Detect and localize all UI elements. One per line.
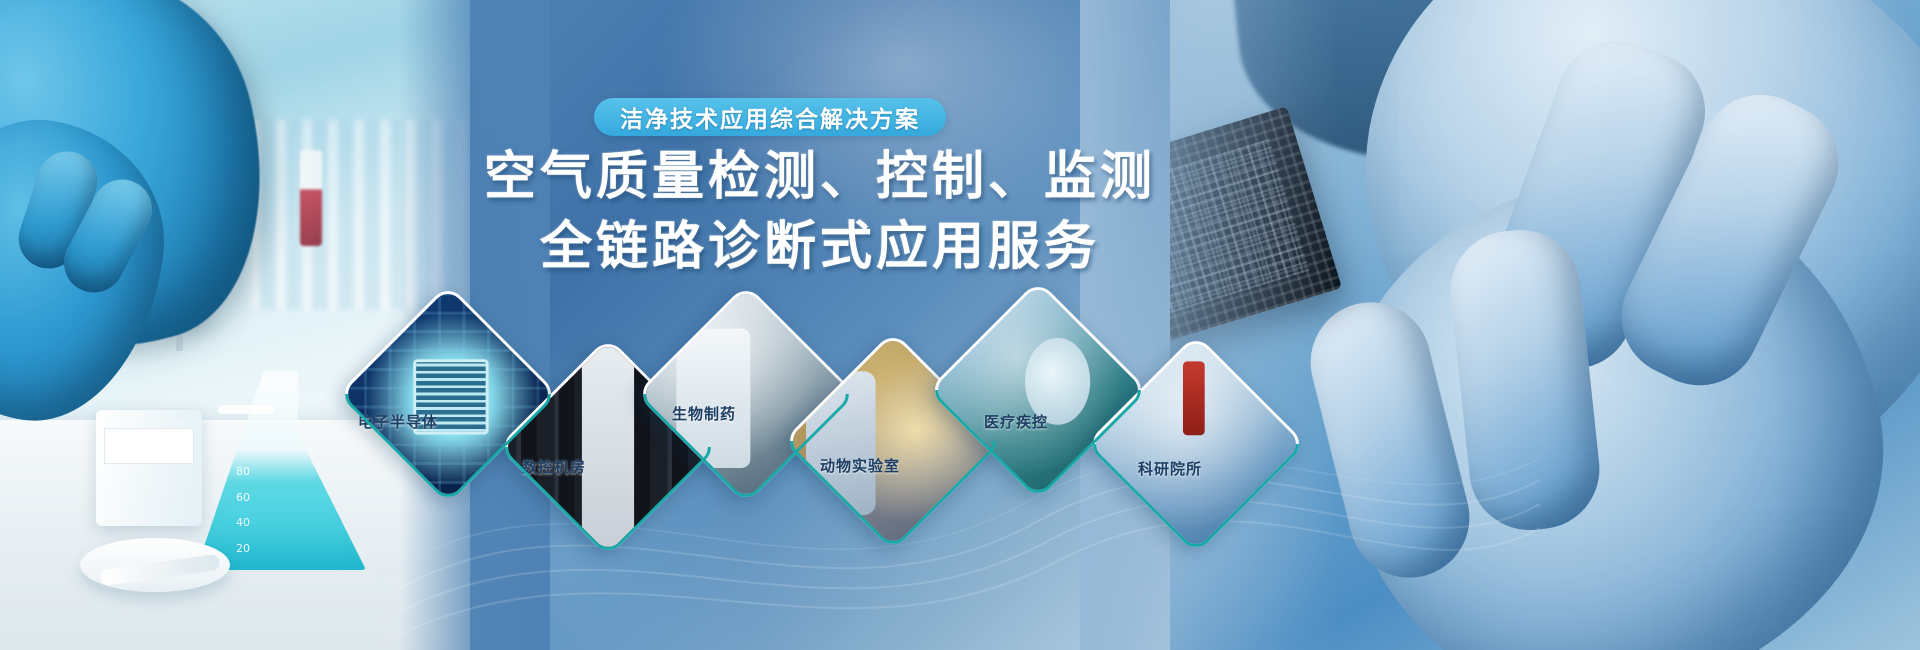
industry-card-label-semiconductor[interactable]: 电子半导体 [358,411,438,432]
tagline-badge: 洁净技术应用综合解决方案 [594,98,946,136]
headline: 空气质量检测、控制、监测 全链路诊断式应用服务 [470,142,1170,282]
flask-graduation-marks: 80604020 [236,465,276,555]
hero-banner: 80604020 洁净技术应用综合解决方案 空气质量检测、控制、监测 [0,0,1920,650]
center-right-gradient-fade [1080,0,1340,650]
industry-card-label-research[interactable]: 科研院所 [1138,458,1202,479]
bottle-label [104,428,194,464]
flask-neck-ring [218,405,274,414]
industry-card-label-animal-lab[interactable]: 动物实验室 [820,455,900,476]
headline-line-1: 空气质量检测、控制、监测 [470,142,1170,212]
industry-card-label-biopharma[interactable]: 生物制药 [672,403,736,424]
industry-card-label-server-room[interactable]: 数控机房 [522,456,586,477]
industry-card-label-medical[interactable]: 医疗疾控 [984,411,1048,432]
headline-line-2: 全链路诊断式应用服务 [470,212,1170,282]
red-sample-tube [300,150,322,246]
